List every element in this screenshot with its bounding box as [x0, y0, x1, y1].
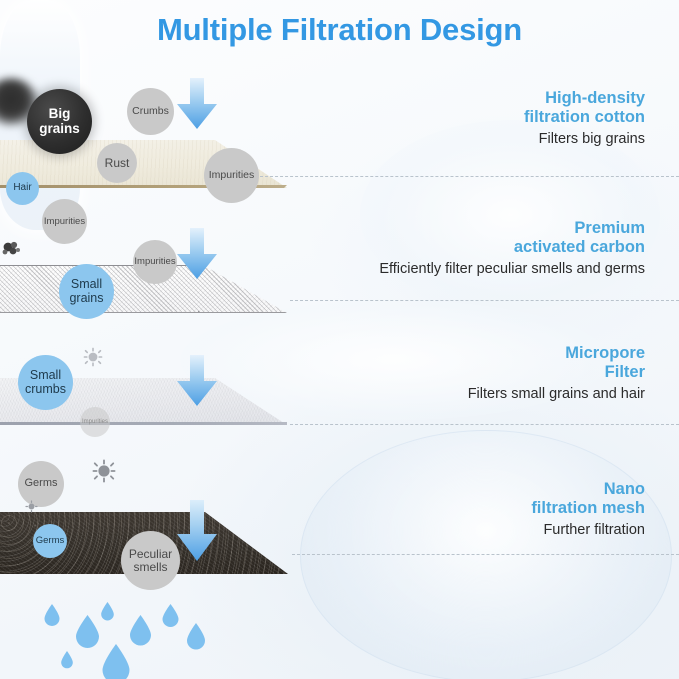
separator-line-1 — [260, 176, 679, 177]
layer-heading-line1: High-density — [524, 89, 645, 108]
separator-line-2 — [290, 300, 679, 301]
layer-subtitle: Efficiently filter peculiar smells and g… — [379, 259, 645, 279]
particle-big-grains: Big grains — [27, 89, 92, 154]
layer-subtitle: Further filtration — [531, 520, 645, 540]
particle-label: Small crumbs — [18, 369, 73, 395]
particle-label: Peculiar smells — [121, 548, 180, 573]
particle-label: Germs — [25, 478, 58, 490]
germ-icon — [1, 238, 23, 260]
germ-icon — [83, 347, 103, 367]
particle-impurities: Impurities — [204, 148, 259, 203]
particle-impurities: Impurities — [42, 199, 87, 244]
text-block-high-density-filtration-cotton: High-density filtration cotton Filters b… — [524, 89, 645, 149]
particle-label: Impurities — [82, 419, 108, 425]
layer-heading-line2: Filter — [468, 363, 645, 382]
particle-impurities: Impurities — [133, 240, 177, 284]
particle-label: Rust — [105, 157, 130, 170]
layer-heading-line1: Premium — [379, 219, 645, 238]
particle-label: Small grains — [59, 278, 114, 304]
particle-impurities: Impurities — [80, 407, 110, 437]
particle-crumbs: Crumbs — [127, 88, 174, 135]
particle-label: Germs — [36, 536, 65, 546]
particle-rust: Rust — [97, 143, 137, 183]
down-arrow-icon — [176, 355, 218, 407]
water-droplet-icon — [128, 614, 153, 647]
layer-heading-line2: activated carbon — [379, 238, 645, 257]
water-droplet-icon — [161, 603, 180, 628]
separator-line-3 — [290, 424, 679, 425]
water-droplet-icon — [100, 601, 115, 621]
separator-line-4 — [292, 554, 679, 555]
particle-hair: Hair — [6, 172, 39, 205]
particle-germs: Germs — [33, 524, 67, 558]
infographic-canvas: Multiple Filtration Design Big grains Cr… — [0, 0, 679, 679]
layer-subtitle: Filters small grains and hair — [468, 384, 645, 404]
text-block-premium-activated-carbon: Premium activated carbon Efficiently fil… — [379, 219, 645, 279]
layer-heading-line2: filtration mesh — [531, 499, 645, 518]
germ-icon — [92, 459, 116, 483]
layer-subtitle: Filters big grains — [524, 129, 645, 149]
water-droplet-icon — [60, 650, 74, 669]
water-droplet-icon — [74, 614, 101, 650]
water-droplet-icon — [100, 643, 132, 679]
particle-peculiar-smells: Peculiar smells — [121, 531, 180, 590]
page-title: Multiple Filtration Design — [0, 12, 679, 48]
particle-label: Impurities — [44, 217, 85, 227]
layer-heading-line2: filtration cotton — [524, 108, 645, 127]
particle-label: Impurities — [134, 257, 175, 267]
down-arrow-icon — [176, 78, 218, 130]
particle-label: Impurities — [209, 170, 255, 181]
micropore-slab-edge — [0, 422, 287, 425]
particle-small-grains: Small grains — [59, 264, 114, 319]
text-block-nano-filtration-mesh: Nano filtration mesh Further filtration — [531, 480, 645, 540]
particle-label: Hair — [13, 183, 31, 194]
text-block-micropore-filter: Micropore Filter Filters small grains an… — [468, 344, 645, 404]
particle-label: Crumbs — [132, 106, 169, 117]
water-droplet-icon — [43, 603, 61, 627]
layer-heading-line1: Micropore — [468, 344, 645, 363]
water-droplet-icon — [185, 622, 207, 651]
particle-label: Big grains — [27, 107, 92, 135]
germ-icon — [25, 500, 38, 513]
down-arrow-icon — [176, 500, 218, 562]
down-arrow-icon — [176, 228, 218, 280]
particle-small-crumbs: Small crumbs — [18, 355, 73, 410]
layer-heading-line1: Nano — [531, 480, 645, 499]
